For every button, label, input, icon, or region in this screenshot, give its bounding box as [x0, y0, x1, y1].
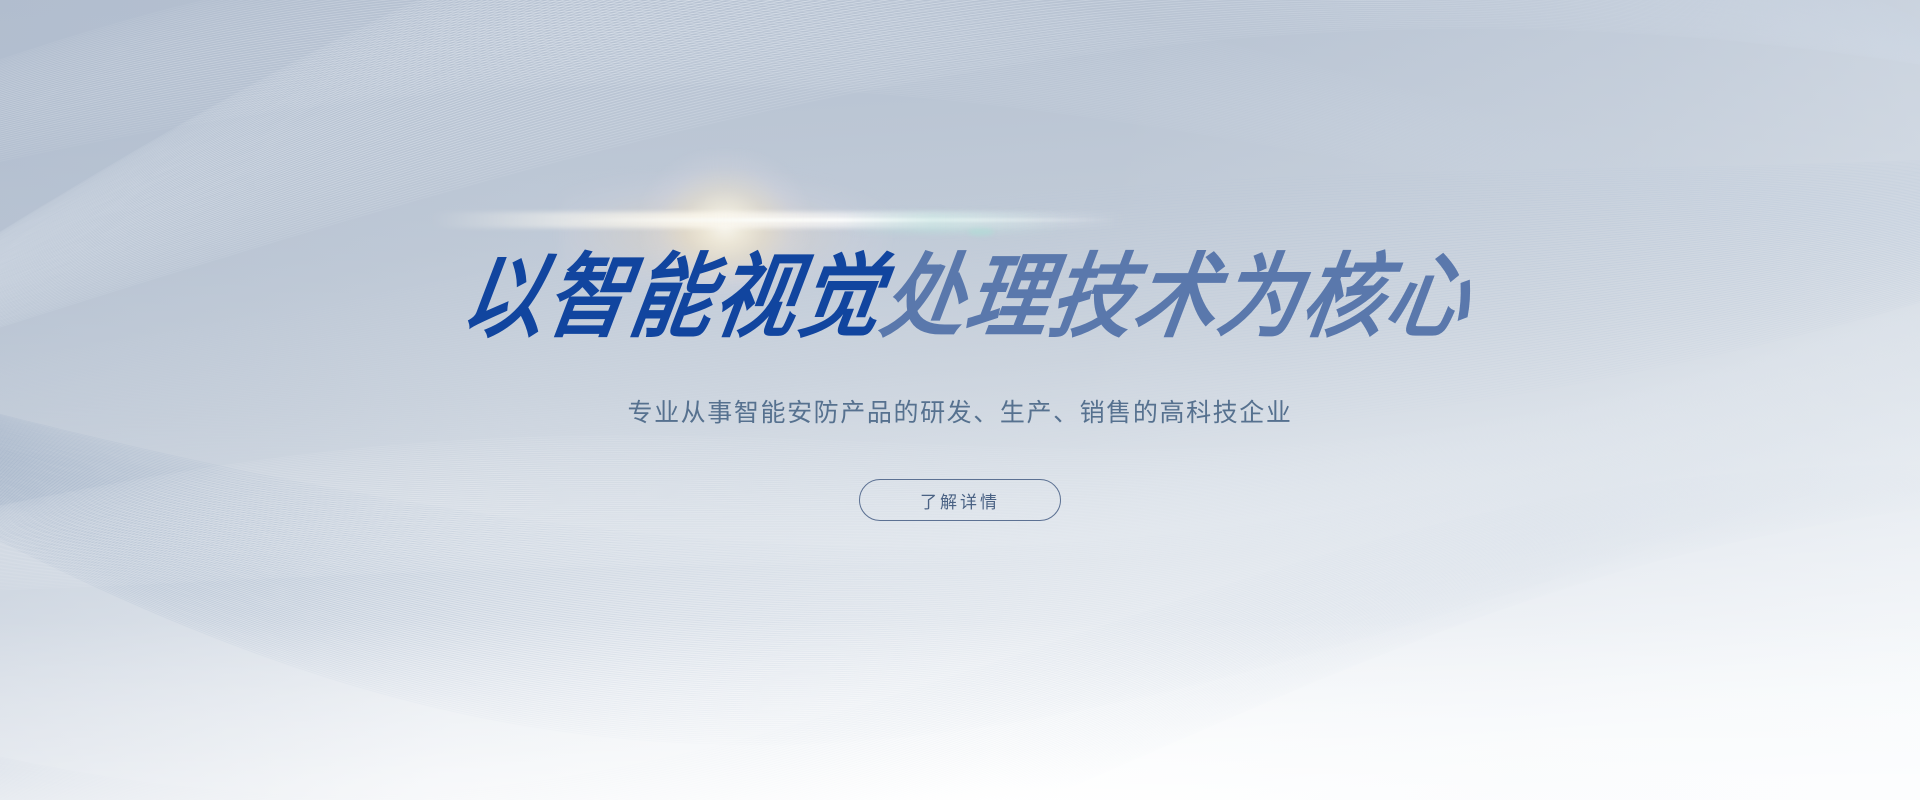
learn-more-button[interactable]: 了解详情 — [859, 479, 1061, 521]
hero-content: 以智能视觉处理技术为核心 专业从事智能安防产品的研发、生产、销售的高科技企业 了… — [0, 0, 1920, 521]
hero-subtitle: 专业从事智能安防产品的研发、生产、销售的高科技企业 — [0, 344, 1920, 431]
headline-segment-primary: 以智能视觉 — [456, 252, 891, 344]
hero-banner: 以智能视觉处理技术为核心 专业从事智能安防产品的研发、生产、销售的高科技企业 了… — [0, 0, 1920, 800]
headline-segment-secondary: 处理技术为核心 — [876, 252, 1479, 344]
page-title: 以智能视觉处理技术为核心 — [0, 0, 1920, 344]
cta-container: 了解详情 — [0, 431, 1920, 521]
